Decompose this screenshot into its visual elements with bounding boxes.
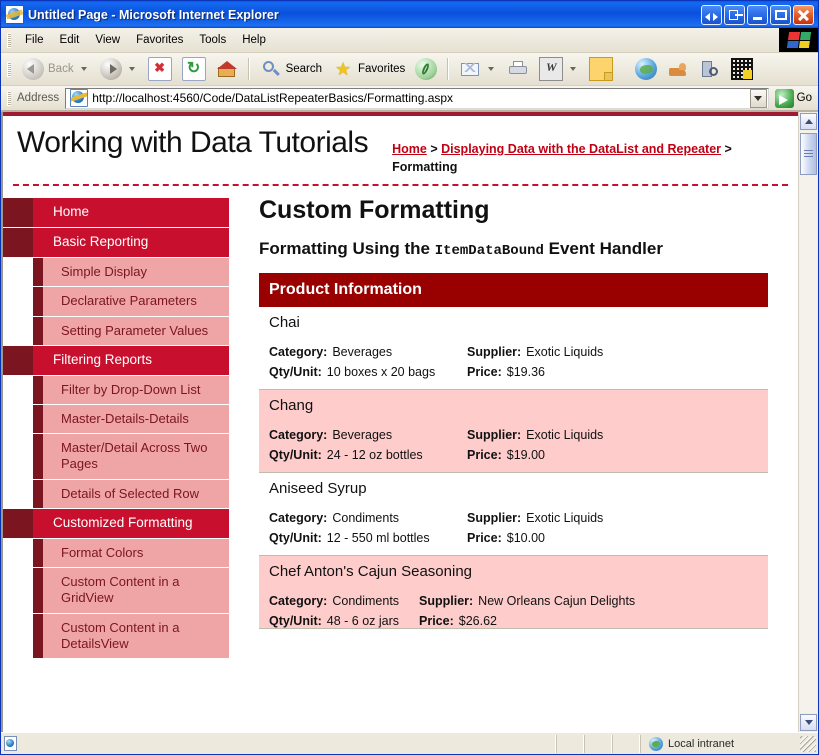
sidebar-item-custom-content-gridview[interactable]: Custom Content in a GridView [43,568,229,614]
supplier-label: Supplier: [467,345,521,359]
go-arrow-icon [775,89,794,108]
sidebar-item-filtering-reports[interactable]: Filtering Reports [23,346,229,376]
category-label: Category: [269,345,327,359]
toolbar-grip[interactable] [7,62,11,77]
product-name: Chang [269,397,758,414]
sidebar-group-filtering-reports: Filtering Reports Filter by Drop-Down Li… [3,346,229,509]
site-title: Working with Data Tutorials [17,126,368,160]
main-toolbar: Back Search Favorites [1,53,818,86]
sidebar-item-declarative-parameters[interactable]: Declarative Parameters [43,287,229,316]
menu-favorites[interactable]: Favorites [128,31,191,49]
breadcrumb-separator-2: > [725,142,732,156]
title-bar: Untitled Page - Microsoft Internet Explo… [1,1,818,28]
status-cell-1 [556,735,584,753]
qty-field: Qty/Unit: 12 - 550 ml bottles [269,531,467,545]
restore-group-button[interactable] [701,5,722,25]
back-history-caret-icon[interactable] [81,67,87,71]
sidebar-group-basic-reporting: Basic Reporting Simple Display Declarati… [3,228,229,346]
edit-word-button[interactable] [534,55,584,83]
vertical-scrollbar[interactable] [798,112,818,732]
price-value: $19.00 [507,448,545,462]
supplier-field: Supplier: Exotic Liquids [467,511,603,525]
shoe-button[interactable] [662,56,694,82]
supplier-value: Exotic Liquids [526,428,603,442]
breadcrumb-separator-1: > [430,142,437,156]
category-value: Beverages [332,345,392,359]
qty-label: Qty/Unit: [269,614,322,628]
refresh-button[interactable] [177,55,211,83]
sidebar-item-simple-display[interactable]: Simple Display [43,258,229,287]
qty-field: Qty/Unit: 10 boxes x 20 bags [269,365,467,379]
category-label: Category: [269,428,327,442]
note-icon [589,57,613,81]
category-value: Condiments [332,511,399,525]
sidebar-item-custom-content-detailsview[interactable]: Custom Content in a DetailsView [43,614,229,660]
section-title-prefix: Formatting Using the [259,239,430,258]
qty-value: 12 - 550 ml bottles [327,531,430,545]
status-bar: Local intranet [1,732,818,754]
supplier-value: Exotic Liquids [526,511,603,525]
media-button[interactable] [410,56,442,82]
globe-icon [635,58,657,80]
qty-label: Qty/Unit: [269,531,322,545]
minimize-button[interactable] [747,5,768,25]
menu-help[interactable]: Help [234,31,274,49]
security-zone[interactable]: Local intranet [640,735,800,753]
category-field: Category: Condiments [269,594,419,608]
back-arrow-icon [22,58,44,80]
stop-icon [148,57,172,81]
favorites-button[interactable]: Favorites [327,56,410,82]
sidebar-nav: Home Basic Reporting Simple Display Decl… [3,186,229,659]
main-content: Custom Formatting Formatting Using the I… [229,186,798,629]
scrollbar-thumb[interactable] [800,133,817,175]
address-grip[interactable] [7,91,11,106]
word-icon [539,57,563,81]
product-row-2: Qty/Unit: 24 - 12 oz bottles Price: $19.… [269,448,758,462]
page-title: Custom Formatting [259,196,768,225]
maximize-button[interactable] [770,5,791,25]
window-title: Untitled Page - Microsoft Internet Explo… [28,8,701,22]
page-icon [70,89,88,107]
window-controls [701,5,816,25]
supplier-label: Supplier: [419,594,473,608]
supplier-field: Supplier: New Orleans Cajun Delights [419,594,635,608]
price-label: Price: [467,448,502,462]
breadcrumb: Home > Displaying Data with the DataList… [392,126,737,176]
price-label: Price: [419,614,454,628]
resize-grip[interactable] [800,736,816,752]
go-button[interactable]: Go [769,89,818,108]
category-field: Category: Beverages [269,345,467,359]
sidebar-item-filter-by-dropdown-list[interactable]: Filter by Drop-Down List [43,376,229,405]
sidebar-item-home[interactable]: Home [23,198,229,228]
scroll-up-button[interactable] [800,113,817,130]
grid-header: Product Information [259,273,768,307]
sidebar-group-customized-formatting: Customized Formatting Format Colors Cust… [3,509,229,659]
edit-caret-icon[interactable] [570,67,576,71]
category-label: Category: [269,594,327,608]
favorites-label: Favorites [358,63,405,75]
product-row-1: Category: Beverages Supplier: Exotic Liq… [269,428,758,442]
research-button[interactable] [694,56,726,82]
toolbar-separator-2 [447,58,449,80]
supplier-field: Supplier: Exotic Liquids [467,345,603,359]
qty-field: Qty/Unit: 48 - 6 oz jars [269,614,419,628]
menu-edit[interactable]: Edit [52,31,88,49]
scroll-down-button[interactable] [800,714,817,731]
product-item: Chai Category: Beverages Supplier: Exoti… [259,307,768,390]
section-title: Formatting Using the ItemDataBound Event… [259,239,768,259]
page-header: Working with Data Tutorials Home > Displ… [3,116,798,180]
intranet-globe-icon [649,737,663,751]
encoding-button[interactable] [726,56,758,82]
address-input[interactable]: http://localhost:4560/Code/DataListRepea… [65,88,768,109]
menu-grip[interactable] [7,33,11,48]
sidebar-item-customized-formatting[interactable]: Customized Formatting [23,509,229,539]
sidebar-item-basic-reporting[interactable]: Basic Reporting [23,228,229,258]
product-row-1: Category: Condiments Supplier: New Orlea… [269,594,758,608]
product-name: Chai [269,314,758,331]
forward-button[interactable] [95,56,143,82]
price-field: Price: $19.00 [467,448,545,462]
supplier-value: Exotic Liquids [526,345,603,359]
refresh-icon [182,57,206,81]
menu-view[interactable]: View [87,31,128,49]
qty-label: Qty/Unit: [269,448,322,462]
supplier-label: Supplier: [467,511,521,525]
price-value: $10.00 [507,531,545,545]
product-item: Chang Category: Beverages Supplier: Exot… [259,390,768,473]
browser-window: Untitled Page - Microsoft Internet Explo… [0,0,819,755]
notes-button[interactable] [584,55,618,83]
price-label: Price: [467,531,502,545]
price-label: Price: [467,365,502,379]
category-value: Beverages [332,428,392,442]
mail-caret-icon[interactable] [488,67,494,71]
qr-grid-icon [731,58,753,80]
close-button[interactable] [793,5,814,25]
breadcrumb-section-link[interactable]: Displaying Data with the DataList and Re… [441,142,721,156]
product-row-1: Category: Beverages Supplier: Exotic Liq… [269,345,758,359]
product-item: Aniseed Syrup Category: Condiments Suppl… [259,473,768,556]
product-row-2: Qty/Unit: 12 - 550 ml bottles Price: $10… [269,531,758,545]
home-icon [216,58,238,80]
sidebar-item-setting-parameter-values[interactable]: Setting Parameter Values [43,317,229,346]
supplier-value: New Orleans Cajun Delights [478,594,635,608]
sidebar-item-master-details-details[interactable]: Master-Details-Details [43,405,229,434]
mail-button[interactable] [454,56,502,82]
category-value: Condiments [332,594,399,608]
supplier-field: Supplier: Exotic Liquids [467,428,603,442]
sidebar-group-home: Home [3,198,229,228]
price-field: Price: $10.00 [467,531,545,545]
windows-flag-icon [779,28,818,52]
forward-history-caret-icon[interactable] [129,67,135,71]
search-label: Search [286,63,322,75]
product-row-1: Category: Condiments Supplier: Exotic Li… [269,511,758,525]
product-name: Chef Anton's Cajun Seasoning [269,563,758,580]
stop-button[interactable] [143,55,177,83]
address-bar: Address http://localhost:4560/Code/DataL… [1,86,818,112]
search-icon [260,58,282,80]
print-button[interactable] [502,56,534,82]
breadcrumb-current: Formatting [392,160,457,174]
qty-value: 48 - 6 oz jars [327,614,399,628]
research-icon [699,58,721,80]
price-value: $19.36 [507,365,545,379]
qty-label: Qty/Unit: [269,365,322,379]
product-item: Chef Anton's Cajun Seasoning Category: C… [259,556,768,629]
back-label: Back [48,63,74,75]
mail-icon [459,58,481,80]
section-title-suffix: Event Handler [549,239,663,258]
security-zone-label: Local intranet [668,738,734,750]
sidebar-item-format-colors[interactable]: Format Colors [43,539,229,568]
product-name: Aniseed Syrup [269,480,758,497]
sidebar-item-master-detail-across-two-pages[interactable]: Master/Detail Across Two Pages [43,434,229,480]
section-title-code: ItemDataBound [435,243,544,259]
qty-value: 24 - 12 oz bottles [327,448,423,462]
search-button[interactable]: Search [255,56,327,82]
toolbar-separator [248,58,250,80]
scrollbar-track[interactable] [800,131,817,713]
ie-page-icon [5,5,24,24]
product-row-2: Qty/Unit: 10 boxes x 20 bags Price: $19.… [269,365,758,379]
price-value: $26.62 [459,614,497,628]
address-url-text: http://localhost:4560/Code/DataListRepea… [92,91,749,105]
menu-file[interactable]: File [17,31,52,49]
category-label: Category: [269,511,327,525]
printer-icon [507,58,529,80]
sidebar-item-details-of-selected-row[interactable]: Details of Selected Row [43,480,229,509]
status-cell-2 [584,735,612,753]
product-row-2: Qty/Unit: 48 - 6 oz jars Price: $26.62 [269,614,758,628]
qty-value: 10 boxes x 20 bags [327,365,435,379]
supplier-label: Supplier: [467,428,521,442]
status-cell-3 [612,735,640,753]
messenger-globe-button[interactable] [630,56,662,82]
category-field: Category: Condiments [269,511,467,525]
address-dropdown-button[interactable] [750,89,767,108]
status-page-icon [1,736,19,751]
media-icon [415,58,437,80]
address-label: Address [17,92,59,104]
menu-tools[interactable]: Tools [191,31,234,49]
price-field: Price: $19.36 [467,365,545,379]
status-message [19,735,556,753]
category-field: Category: Beverages [269,428,467,442]
breadcrumb-home-link[interactable]: Home [392,142,427,156]
menu-bar: File Edit View Favorites Tools Help [1,28,818,53]
page-viewport: Working with Data Tutorials Home > Displ… [1,112,818,732]
restore-window-button[interactable] [724,5,745,25]
go-label: Go [797,92,812,104]
star-icon [332,58,354,80]
forward-arrow-icon [100,58,122,80]
shoe-icon [667,58,689,80]
home-button[interactable] [211,56,243,82]
price-field: Price: $26.62 [419,614,497,628]
web-page: Working with Data Tutorials Home > Displ… [3,112,798,732]
qty-field: Qty/Unit: 24 - 12 oz bottles [269,448,467,462]
browser-chrome: File Edit View Favorites Tools Help Back [1,28,818,112]
back-button[interactable]: Back [17,56,95,82]
